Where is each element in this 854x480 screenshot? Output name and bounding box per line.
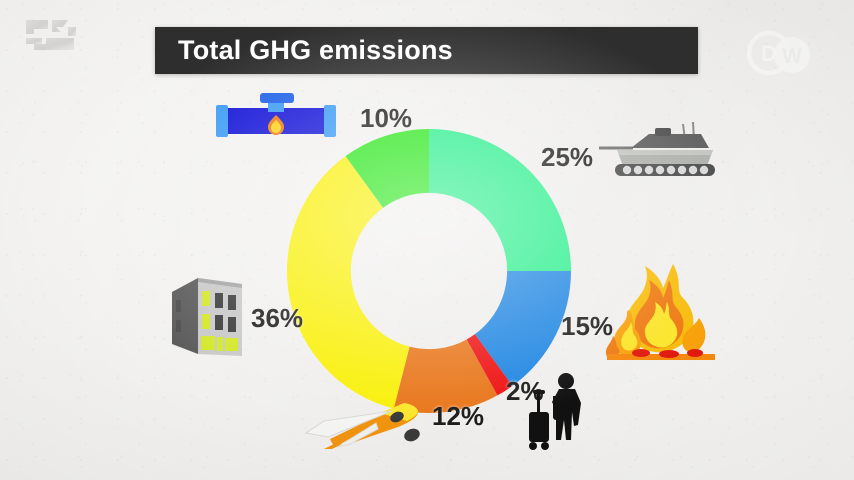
svg-text:W: W — [782, 45, 802, 68]
airplane-icon — [300, 393, 425, 455]
fire-icon — [603, 258, 719, 363]
graphic-stage: D W Total GHG emissions 10% 25% 15% 2% 1… — [0, 0, 854, 480]
channel-logo-icon — [22, 14, 94, 56]
title-banner: Total GHG emissions — [155, 27, 698, 74]
svg-text:D: D — [761, 41, 777, 66]
page-title: Total GHG emissions — [178, 35, 453, 66]
slice-label-airplane: 12% — [432, 401, 484, 432]
traveler-icon — [519, 370, 591, 460]
building-icon — [168, 268, 246, 363]
pipeline-icon — [212, 88, 340, 150]
slice-label-building: 36% — [251, 303, 303, 334]
slice-label-pipeline: 10% — [360, 103, 412, 134]
tank-icon — [597, 118, 725, 186]
slice-label-tank: 25% — [541, 142, 593, 173]
dw-logo-icon: D W — [744, 28, 816, 78]
